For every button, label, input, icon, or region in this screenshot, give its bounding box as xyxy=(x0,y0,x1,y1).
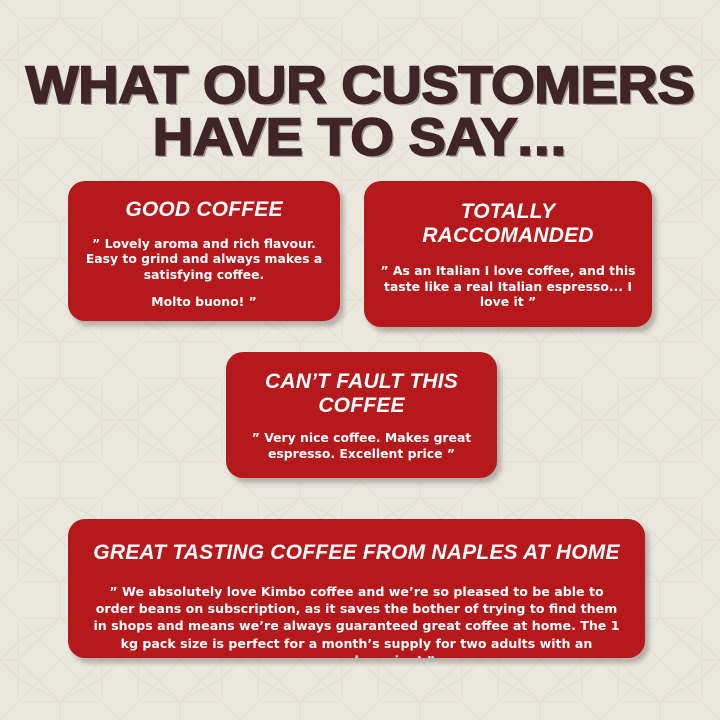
testimonial-quote: ” Lovely aroma and rich flavour. Easy to… xyxy=(82,236,326,311)
page-title-line-2-text: HAVE TO SAY xyxy=(153,108,518,167)
testimonial-quote: ” We absolutely love Kimbo coffee and we… xyxy=(92,583,621,658)
testimonial-quote: ” As an Italian I love coffee, and this … xyxy=(374,263,642,310)
testimonial-quote: ” Very nice coffee. Makes great espresso… xyxy=(248,430,475,461)
page-title: WHAT OUR CUSTOMERS HAVE TO SAY... xyxy=(0,60,720,165)
testimonial-card-cant-fault-this-coffee: CAN’T FAULT THIS COFFEE ” Very nice coff… xyxy=(226,352,497,478)
testimonial-title: GOOD COFFEE xyxy=(125,198,282,222)
testimonial-card-totally-raccomanded: TOTALLY RACCOMANDED ” As an Italian I lo… xyxy=(364,181,652,327)
testimonial-quote-line-2: Molto buono! ” xyxy=(82,294,326,310)
testimonial-title: CAN’T FAULT THIS COFFEE xyxy=(248,370,475,417)
page-title-line-1: WHAT OUR CUSTOMERS xyxy=(0,60,720,112)
testimonials-page: WHAT OUR CUSTOMERS HAVE TO SAY... GOOD C… xyxy=(0,0,720,720)
testimonial-quote-line-1: ” As an Italian I love coffee, and this … xyxy=(374,263,642,310)
testimonial-title: GREAT TASTING COFFEE FROM NAPLES AT HOME xyxy=(93,541,619,565)
testimonial-quote-line-1: ” Very nice coffee. Makes great espresso… xyxy=(248,430,475,461)
page-title-ellipsis: ... xyxy=(517,108,567,167)
testimonial-card-great-tasting-coffee-from-naples-at-home: GREAT TASTING COFFEE FROM NAPLES AT HOME… xyxy=(68,519,645,658)
testimonial-quote-line-1: ” We absolutely love Kimbo coffee and we… xyxy=(92,583,621,658)
testimonial-quote-line-1: ” Lovely aroma and rich flavour. Easy to… xyxy=(82,236,326,283)
page-title-line-2: HAVE TO SAY... xyxy=(0,112,720,164)
testimonial-title: TOTALLY RACCOMANDED xyxy=(374,200,642,247)
testimonial-card-good-coffee: GOOD COFFEE ” Lovely aroma and rich flav… xyxy=(68,181,340,321)
